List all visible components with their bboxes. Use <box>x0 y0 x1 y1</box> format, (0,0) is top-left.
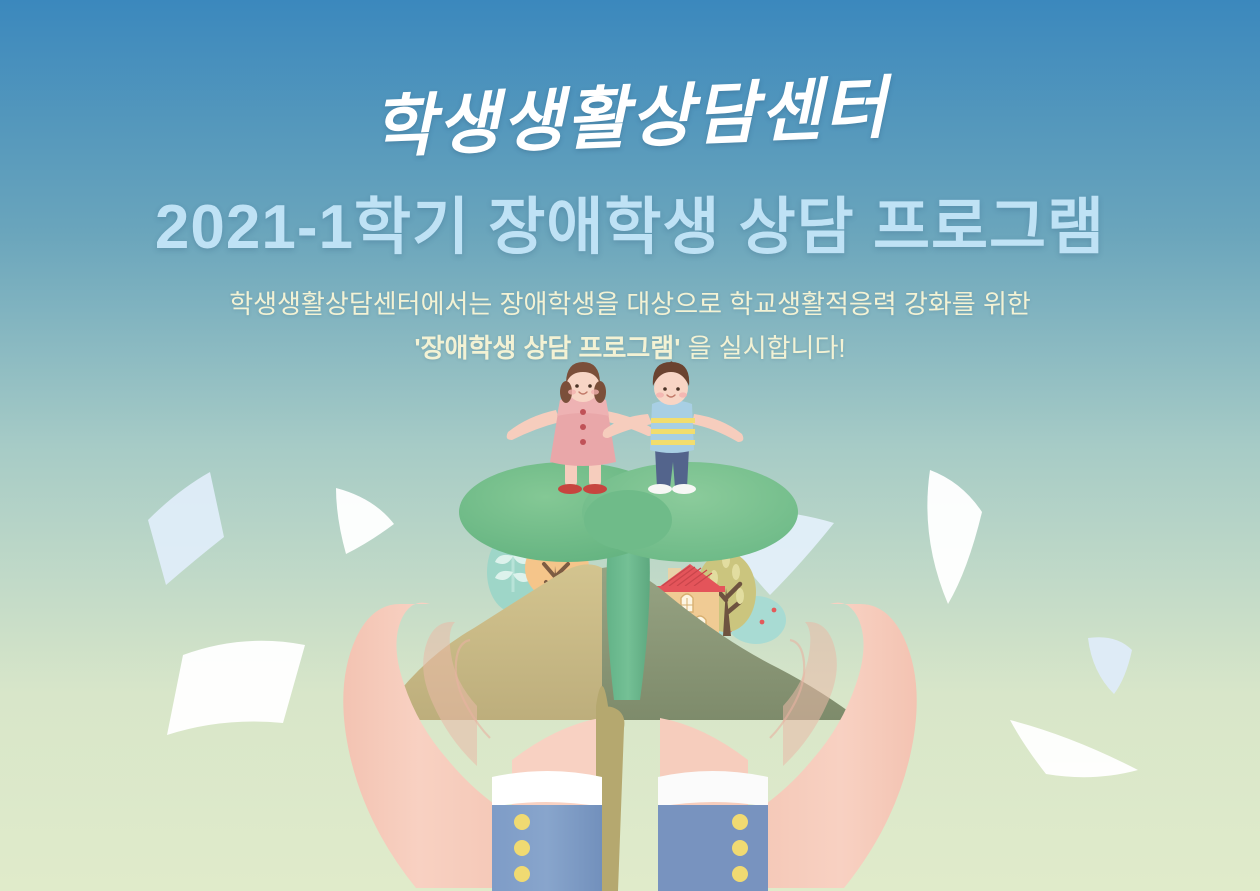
description-quoted-program: '장애학생 상담 프로그램' <box>414 333 680 363</box>
sleeve-buttons-right <box>732 814 748 882</box>
poster-canvas: 학생생활상담센터 2021-1학기 장애학생 상담 프로그램 학생생활상담센터에… <box>0 0 1260 891</box>
center-name-script-title: 학생생활상담센터 <box>0 38 1260 185</box>
program-description: 학생생활상담센터에서는 장애학생을 대상으로 학교생활적응력 강화를 위한 '장… <box>0 282 1260 370</box>
description-line-2: '장애학생 상담 프로그램' 을 실시합니다! <box>0 326 1260 370</box>
sleeve-buttons-left <box>514 814 530 882</box>
text-layer: 학생생활상담센터 2021-1학기 장애학생 상담 프로그램 학생생활상담센터에… <box>0 0 1260 420</box>
description-line-2-rest: 을 실시합니다! <box>680 333 845 363</box>
program-main-title: 2021-1학기 장애학생 상담 프로그램 <box>0 176 1260 266</box>
description-line-1: 학생생활상담센터에서는 장애학생을 대상으로 학교생활적응력 강화를 위한 <box>0 282 1260 326</box>
